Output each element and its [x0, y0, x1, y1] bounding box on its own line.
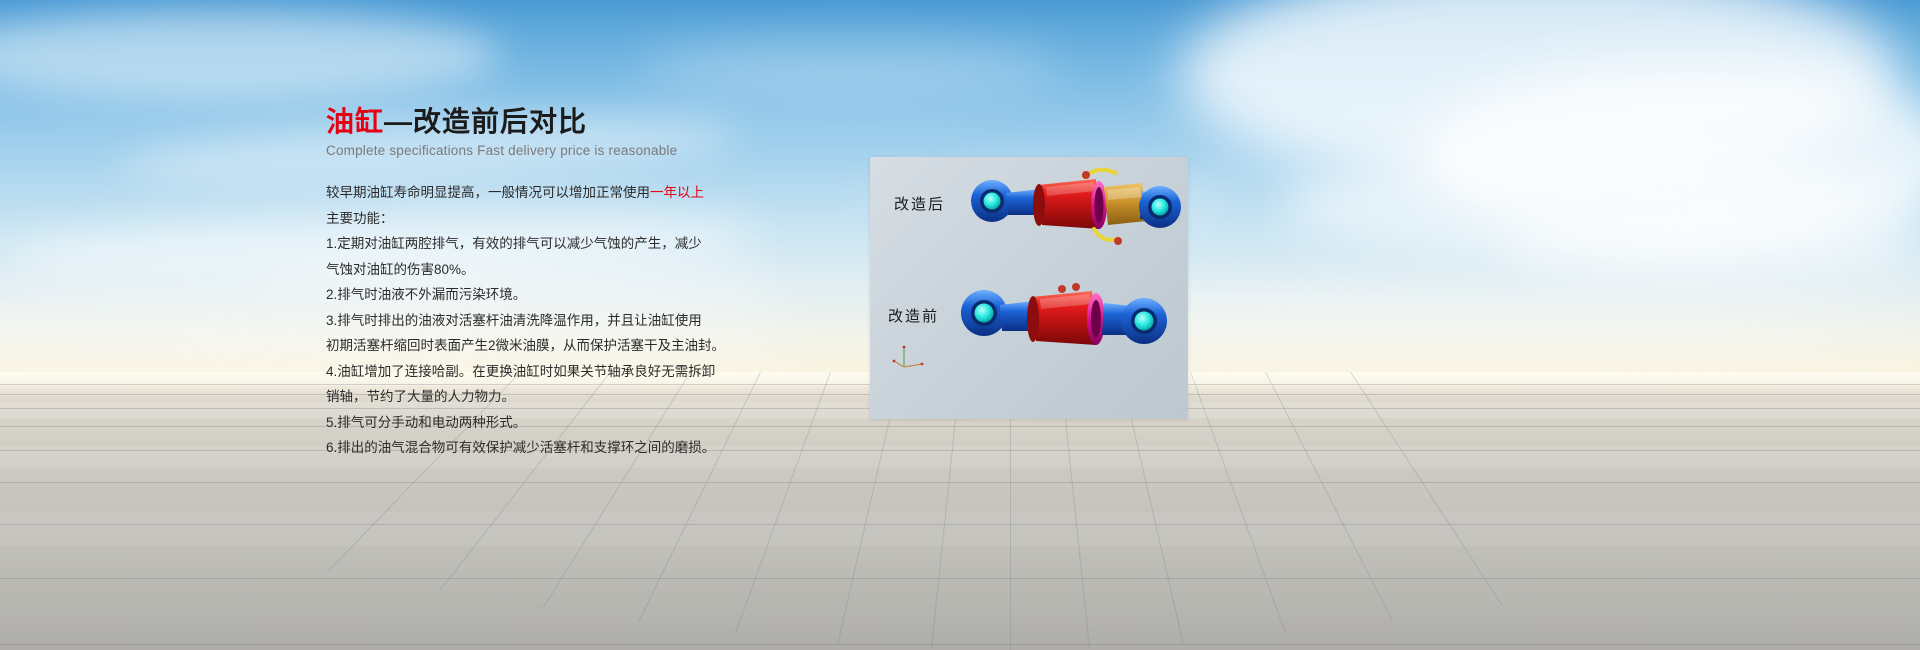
pavement-joint-horizontal — [0, 524, 1920, 525]
panel-label-before: 改造前 — [888, 305, 939, 326]
cloud-puff — [1180, 0, 1900, 190]
feature-item-4-line1: 4.油缸增加了连接哈副。在更换油缸时如果关节轴承良好无需拆卸 — [326, 359, 756, 385]
exhaust-tube — [1094, 229, 1118, 240]
rod-eye-left — [971, 180, 1013, 222]
cloud-puff — [1280, 150, 1920, 260]
pavement-joint-horizontal — [0, 450, 1920, 451]
hydraulic-cylinder-banner: 油缸—改造前后对比 Complete specifications Fast d… — [0, 0, 1920, 650]
feature-item-5-line1: 5.排气可分手动和电动两种形式。 — [326, 410, 756, 436]
subtitle-english: Complete specifications Fast delivery pr… — [326, 143, 756, 158]
cloud-puff — [1500, 215, 1920, 285]
banner-text-block: 油缸—改造前后对比 Complete specifications Fast d… — [326, 104, 756, 461]
hydraulic-cylinder-before-render — [958, 275, 1186, 403]
body-intro-text: 较早期油缸寿命明显提高，一般情况可以增加正常使用 — [326, 185, 650, 200]
rod-eye-left — [961, 290, 1007, 336]
feature-item-6-line1: 6.排出的油气混合物可有效保护减少活塞杆和支撑环之间的磨损。 — [326, 435, 756, 461]
product-comparison-panel: 改造后 改造前 — [870, 157, 1188, 419]
feature-item-2-line1: 2.排气时油液不外漏而污染环境。 — [326, 282, 756, 308]
pavement-joint-horizontal — [0, 426, 1920, 427]
body-intro-highlight: 一年以上 — [650, 185, 704, 200]
page-title: 油缸—改造前后对比 — [326, 104, 756, 139]
pavement-joint-horizontal — [0, 482, 1920, 483]
rod-eye-right — [1139, 186, 1181, 228]
panel-label-after: 改造后 — [894, 193, 945, 214]
page-title-highlight: 油缸 — [326, 106, 384, 137]
body-copy: 较早期油缸寿命明显提高，一般情况可以增加正常使用一年以上 主要功能： 1.定期对… — [326, 180, 756, 461]
cloud-puff — [1420, 60, 1920, 250]
feature-item-3-line2: 初期活塞杆缩回时表面产生2微米油膜，从而保护活塞干及主油封。 — [326, 333, 756, 359]
pavement-joint-horizontal — [0, 644, 1920, 645]
port-fitting — [1072, 283, 1080, 291]
cloud-streak — [0, 10, 500, 100]
rod-eye-right — [1121, 298, 1167, 344]
page-title-rest: —改造前后对比 — [384, 106, 587, 137]
pavement-joint-horizontal — [0, 578, 1920, 579]
body-intro-line: 较早期油缸寿命明显提高，一般情况可以增加正常使用一年以上 — [326, 180, 756, 206]
hydraulic-cylinder-after-render — [966, 163, 1184, 279]
pavement-slab-band — [0, 512, 1920, 546]
body-section-label: 主要功能： — [326, 206, 756, 232]
cloud-streak — [640, 40, 1060, 95]
flange-ring — [1087, 293, 1105, 345]
port-fitting — [1058, 285, 1066, 293]
feature-item-4-line2: 销轴，节约了大量的人力物力。 — [326, 384, 756, 410]
feature-item-1-line1: 1.定期对油缸两腔排气，有效的排气可以减少气蚀的产生，减少 — [326, 231, 756, 257]
feature-item-3-line1: 3.排气时排出的油液对活塞杆油清洗降温作用，并且让油缸使用 — [326, 308, 756, 334]
xyz-axis-gizmo-icon — [892, 339, 932, 373]
feature-item-1-line2: 气蚀对油缸的伤害80%。 — [326, 257, 756, 283]
